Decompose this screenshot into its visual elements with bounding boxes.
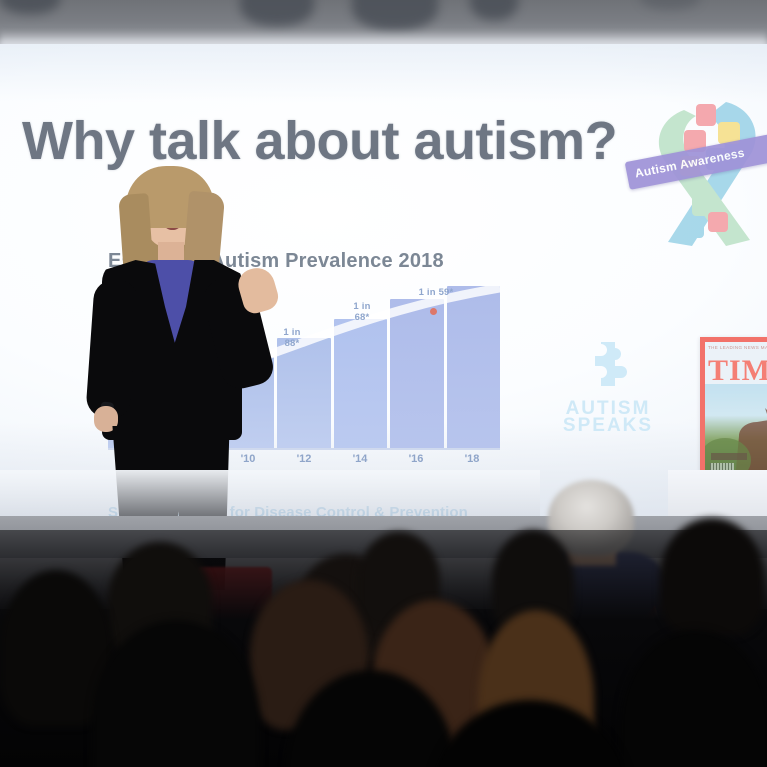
chart-annotation: 1 in 88*	[270, 328, 314, 349]
x-tick: '12	[276, 453, 332, 471]
chart-annotation: 1 in 59*	[404, 288, 468, 299]
chart-marker-dot	[430, 308, 437, 315]
chart-bar	[447, 286, 500, 450]
chart-annotation: 1 in 68*	[340, 302, 384, 323]
time-magazine-cover: THE LEADING NEWS MAGAZINE TIME	[700, 337, 767, 487]
x-tick: '14	[332, 453, 388, 471]
audience-area	[0, 470, 767, 767]
chart-bar	[334, 319, 387, 450]
ceiling-band	[0, 0, 767, 46]
autism-awareness-ribbon: Autism Awareness	[622, 96, 767, 256]
time-kicker: THE LEADING NEWS MAGAZINE	[708, 345, 767, 350]
puzzle-piece-icon	[581, 340, 635, 390]
autism-speaks-line2: SPEAKS	[556, 416, 660, 435]
time-masthead: TIME	[708, 354, 767, 388]
time-cover-headline-bar	[711, 453, 747, 460]
chart-bar	[277, 338, 330, 450]
autism-speaks-logo: AUTISM SPEAKS	[556, 340, 660, 430]
slide-title: Why talk about autism?	[22, 110, 617, 172]
presentation-photo: Autism Awareness Why talk about autism? …	[0, 0, 767, 767]
x-tick: '16	[388, 453, 444, 471]
x-tick: '18	[444, 453, 500, 471]
chart-bar	[390, 299, 443, 450]
audience-head	[660, 518, 764, 636]
